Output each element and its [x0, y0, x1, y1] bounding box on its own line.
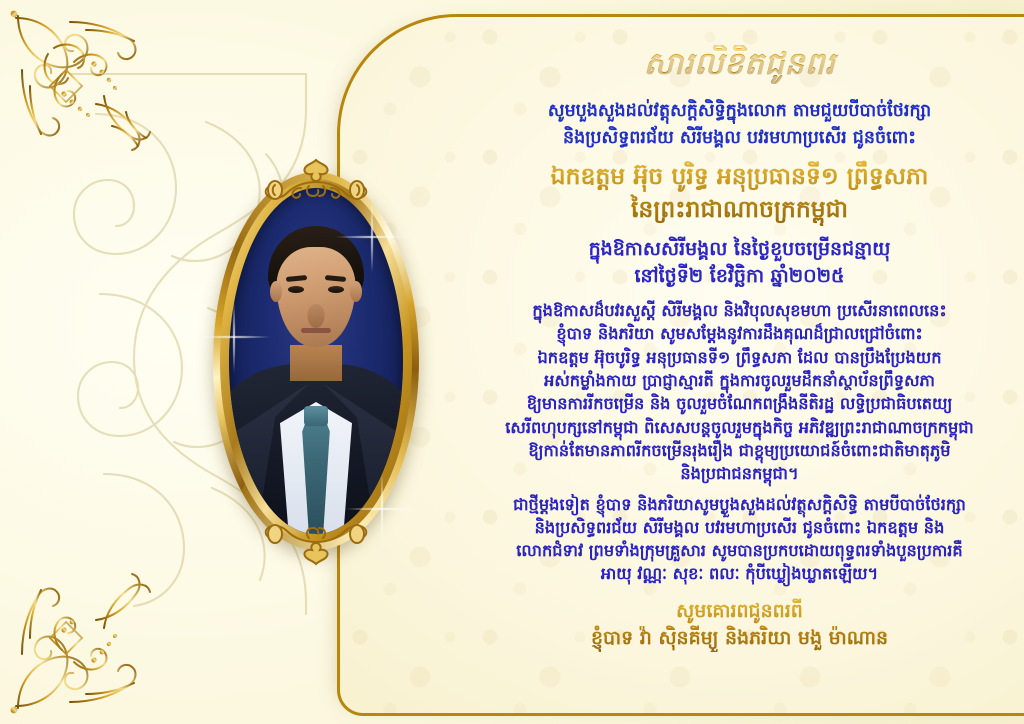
body-p1-l8: និងប្រជាជនកម្ពុជា។	[460, 462, 1019, 485]
corner-ornament-top-left	[8, 8, 158, 158]
salutation-line-1: សូមបួងសួងដល់វត្តុសក្តិសិទ្ធិក្នុងលោក តាម…	[460, 98, 1019, 125]
salutation-block: សូមបួងសួងដល់វត្តុសក្តិសិទ្ធិក្នុងលោក តាម…	[460, 98, 1019, 152]
occasion-line-2: នៅថ្ងៃទី២ ខែវិច្ឆិកា ឆ្នាំ២០២៥	[460, 263, 1019, 291]
body-p2-l1: ជាថ្មីម្ដងទៀត ខ្ញុំបាទ និងភរិយាសូមប្ងួងស…	[460, 493, 1019, 516]
portrait-photo	[229, 188, 403, 534]
signature-block: សូមគោរពជូនពរពី ខ្ញុំបាទ វ៉ា ស៊ិនគីម្យួ ន…	[460, 598, 1019, 652]
page-title: សារលិខិតជូនពរ	[460, 45, 1019, 84]
portrait-frame	[213, 172, 419, 550]
frame-foot-ornament	[241, 516, 391, 566]
congratulation-card: សារលិខិតជូនពរ សូមបួងសួងដល់វត្តុសក្តិសិទ្…	[0, 0, 1024, 724]
body-text: ក្នុងឱកាសដ៏បវរសួស្ដី សិរីមង្គល និងវិបុលស…	[460, 299, 1019, 586]
body-p1-l7: ឱ្យកាន់តែមានភាពរីកចម្រើនរុងរឿង ជាខ្ពុម្យ…	[460, 439, 1019, 462]
neck	[290, 345, 342, 381]
occasion-line-1: ក្នុងឱកាសសិរីមង្គល នៃថ្ងៃខួបចម្រើនជន្មាយ…	[460, 236, 1019, 264]
salutation-line-2: និងប្រសិទ្ធពរជ័យ សិរីមង្គល បវរមហាប្រសើរ …	[460, 125, 1019, 152]
body-p2-l4: អាយុ វណ្ណៈ សុខៈ ពលៈ កុំបីឃ្លៀងឃ្លាតឡើយ។	[460, 562, 1019, 585]
occasion-block: ក្នុងឱកាសសិរីមង្គល នៃថ្ងៃខួបចម្រើនជន្មាយ…	[460, 236, 1019, 291]
signature-line-1: សូមគោរពជូនពរពី	[460, 598, 1019, 625]
body-p1-l2: ខ្ញុំបាទ និងភរិយា សូមសម្ដែងនូវការដឹងគុណដ…	[460, 322, 1019, 345]
message-panel: សារលិខិតជូនពរ សូមបួងសួងដល់វត្តុសក្តិសិទ្…	[337, 14, 1024, 716]
tie-knot	[304, 406, 328, 426]
body-p1-l4: អស់កម្លាំងកាយ ប្រាជ្ញាស្មារតី ក្នុងការចូ…	[460, 369, 1019, 392]
honoree-block: ឯកឧត្តម អ៊ុច បូរិទ្ធ អនុប្រធានទី១ ព្រឹទ្…	[460, 160, 1019, 226]
honoree-line-1: ឯកឧត្តម អ៊ុច បូរិទ្ធ អនុប្រធានទី១ ព្រឹទ្…	[460, 160, 1019, 193]
honoree-line-2: នៃព្រះរាជាណាចក្រកម្ពុជា	[460, 193, 1019, 226]
nose	[308, 304, 325, 328]
body-p1-l5: ឱ្យមានការរីកចម្រើន និង ចូលរួមចំណែកពង្រឹង…	[460, 392, 1019, 415]
body-p1-l6: សេរីពហុបក្សនៅកម្ពុជា ពិសេសបន្តចូលរួមក្នុ…	[460, 416, 1019, 439]
frame-crown-ornament	[241, 158, 391, 208]
body-p1-l1: ក្នុងឱកាសដ៏បវរសួស្ដី សិរីមង្គល និងវិបុលស…	[460, 299, 1019, 322]
paragraph-gap	[460, 486, 1019, 493]
ear-right	[350, 281, 362, 302]
body-p1-l3: ឯកឧត្តម អ៊ុចបូរិទ្ធ អនុប្រធានទី១ ព្រឹទ្ធ…	[460, 346, 1019, 369]
mouth	[301, 328, 331, 333]
signature-line-2: ខ្ញុំបាទ វ៉ា ស៊ិនគីម្យួ និងភរិយា មងួ ម៉ា…	[460, 625, 1019, 652]
body-p2-l3: លោកជំទាវ ព្រមទាំងក្រុមគ្រួសារ សូមបានប្រក…	[460, 539, 1019, 562]
corner-ornament-bottom-left	[8, 566, 158, 716]
body-p2-l2: និងប្រសិទ្ធពរជ័យ សិរីមង្គល បវរមហាប្រសើរ …	[460, 516, 1019, 539]
photo-subject	[229, 188, 403, 534]
